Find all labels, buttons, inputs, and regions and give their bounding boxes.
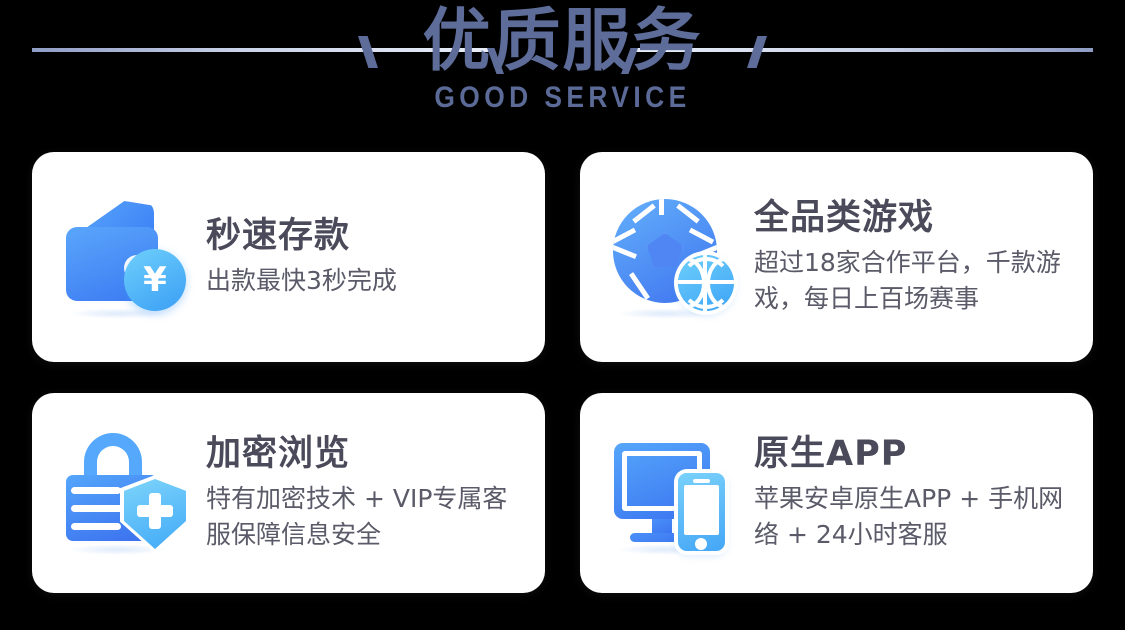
feature-card-native-app[interactable]: 原生APP 苹果安卓原生APP + 手机网络 + 24小时客服 (580, 393, 1093, 593)
card-title: 秒速存款 (206, 216, 531, 256)
card-title: 加密浏览 (206, 434, 531, 474)
basketball-icon (678, 255, 734, 311)
lock-slot (71, 523, 121, 530)
card-subtitle: 超过18家合作平台，千款游戏，每日上百场赛事 (754, 245, 1079, 316)
phone-speaker (693, 479, 710, 483)
cross-icon (137, 505, 173, 517)
card-title: 原生APP (754, 434, 1079, 474)
banner-header: 优质服务 GOOD SERVICE (0, 0, 1125, 140)
yen-glyph: ¥ (124, 249, 186, 311)
feature-card-games[interactable]: 全品类游戏 超过18家合作平台，千款游戏，每日上百场赛事 (580, 152, 1093, 362)
card-subtitle: 苹果安卓原生APP + 手机网络 + 24小时客服 (754, 481, 1079, 552)
phone-home-button (695, 538, 707, 550)
card-title: 全品类游戏 (754, 198, 1079, 238)
card-text: 秒速存款 出款最快3秒完成 (206, 216, 545, 299)
wallet-icon: ¥ (62, 193, 190, 321)
lock-slot (71, 487, 121, 494)
feature-card-deposit[interactable]: ¥ 秒速存款 出款最快3秒完成 (32, 152, 545, 362)
monitor-phone-icon (610, 429, 738, 557)
page-title: 优质服务 (0, 6, 1125, 77)
card-text: 全品类游戏 超过18家合作平台，千款游戏，每日上百场赛事 (754, 198, 1093, 316)
card-subtitle: 出款最快3秒完成 (206, 263, 531, 299)
phone-screen (684, 485, 719, 535)
card-text: 加密浏览 特有加密技术 + VIP专属客服保障信息安全 (206, 434, 545, 552)
feature-card-encryption[interactable]: 加密浏览 特有加密技术 + VIP专属客服保障信息安全 (32, 393, 545, 593)
feature-card-grid: ¥ 秒速存款 出款最快3秒完成 (32, 152, 1093, 593)
soccer-ball-icon (610, 193, 738, 321)
lock-shield-icon (62, 429, 190, 557)
title-block: 优质服务 GOOD SERVICE (0, 6, 1125, 115)
card-text: 原生APP 苹果安卓原生APP + 手机网络 + 24小时客服 (754, 434, 1093, 552)
card-subtitle: 特有加密技术 + VIP专属客服保障信息安全 (206, 481, 531, 552)
page-subtitle: GOOD SERVICE (68, 81, 1058, 115)
good-service-banner: 优质服务 GOOD SERVICE ¥ 秒速存款 出款最快3秒完成 (0, 0, 1125, 630)
